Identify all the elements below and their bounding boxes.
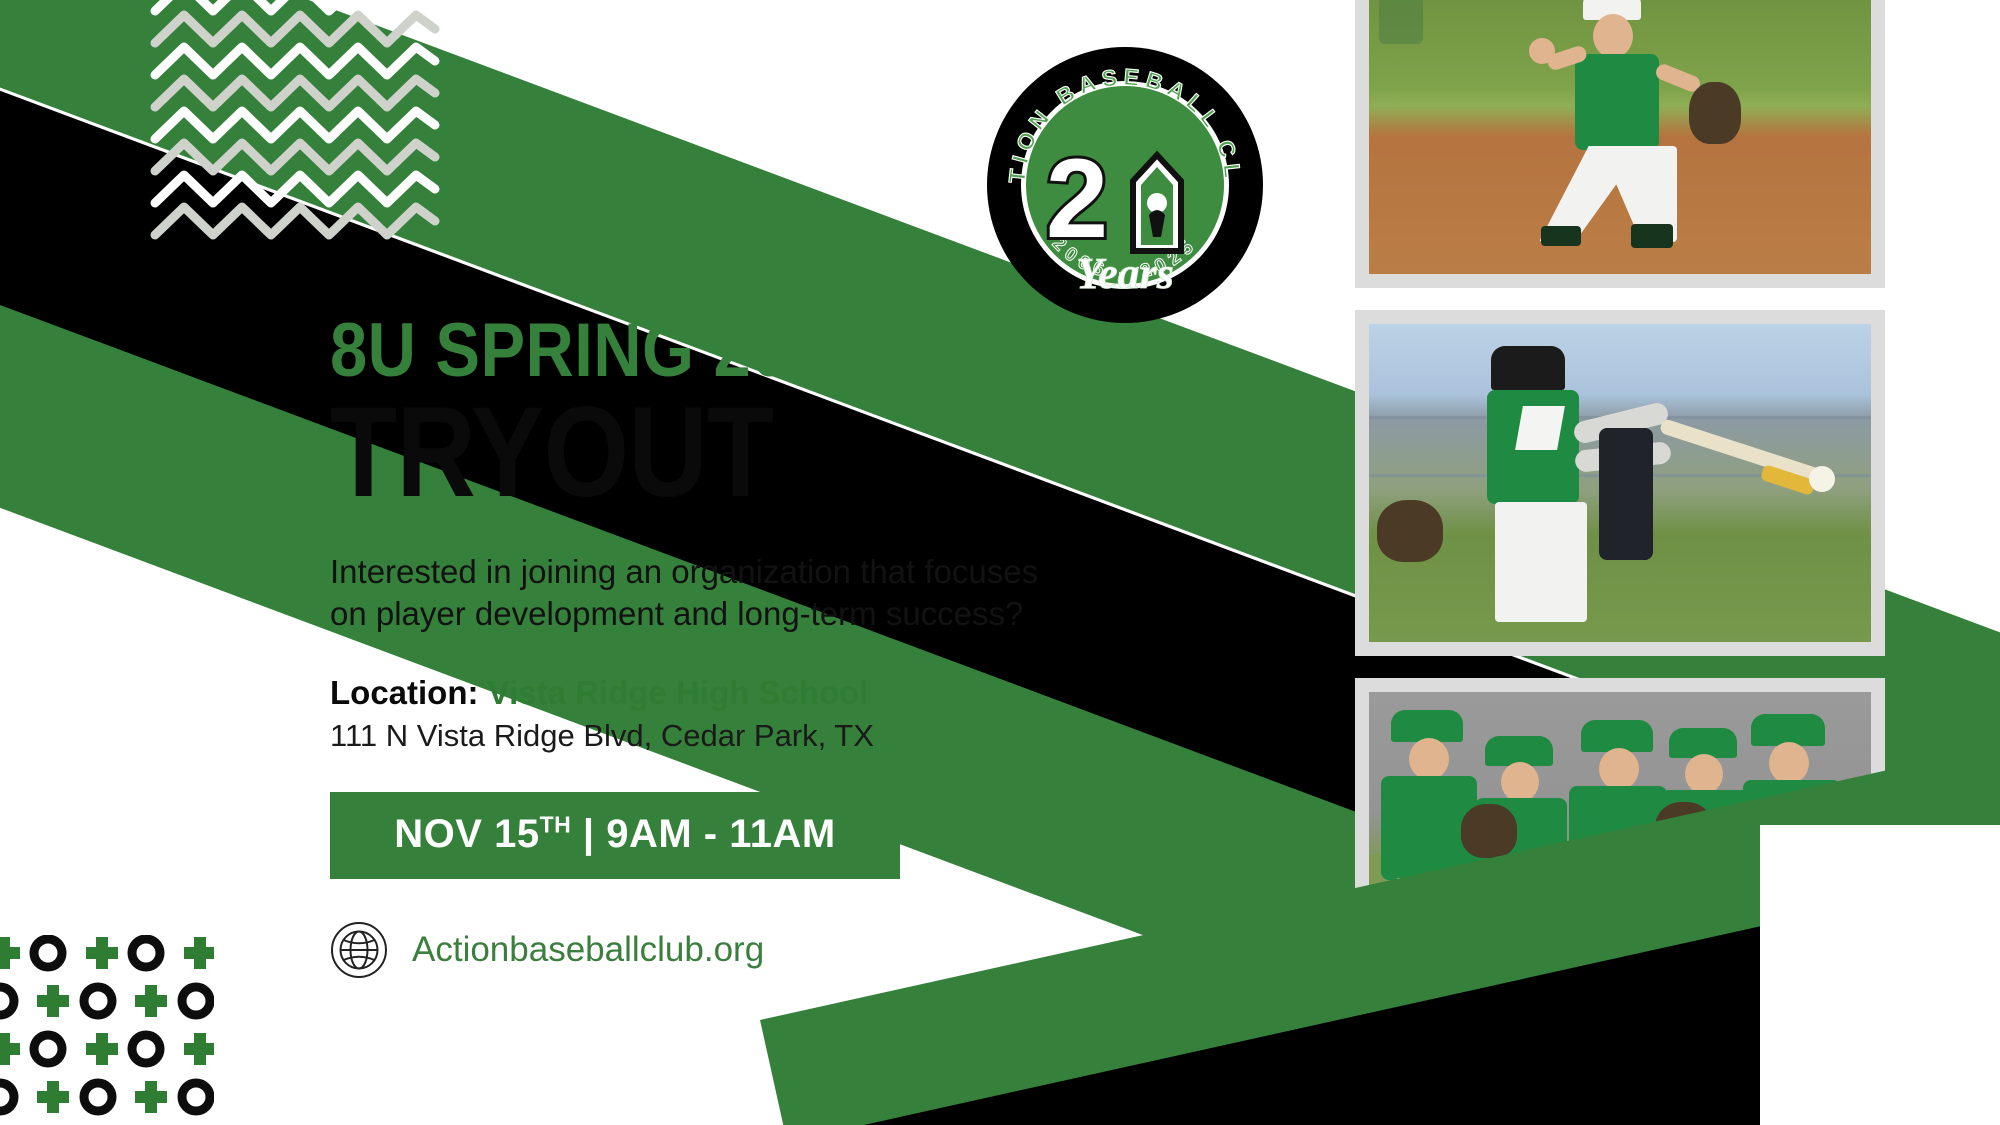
event-ordinal-suffix: TH (540, 811, 572, 837)
plus-circle-grid-pattern (0, 935, 212, 1125)
logo-monogram-a (1133, 155, 1181, 251)
photo-batter (1369, 324, 1871, 642)
location-line: Location: Vista Ridge High School (330, 672, 1110, 713)
location-label: Location: (330, 674, 478, 711)
logo-script-years: Years (1076, 249, 1174, 298)
location-venue: Vista Ridge High School (488, 674, 869, 711)
logo-anniversary-number: 2 (1046, 136, 1108, 261)
page-title: TRYOUT (330, 389, 1001, 517)
photo-frame-batter (1355, 310, 1885, 656)
intro-paragraph: Interested in joining an organization th… (330, 551, 1040, 635)
website-url[interactable]: Actionbaseballclub.org (412, 930, 764, 970)
event-time-range: 9AM - 11AM (606, 812, 836, 856)
text-content-block: 8U SPRING 2026 TRYOUT Interested in join… (330, 315, 1110, 979)
event-separator: | (583, 812, 595, 856)
location-address: 111 N Vista Ridge Blvd, Cedar Park, TX (330, 717, 1110, 756)
bottom-right-white-mask (1760, 825, 2000, 1125)
action-baseball-club-logo: ACTION BASEBALL CLUB 2006 - 2025 2 Years (985, 45, 1265, 325)
globe-icon (330, 921, 388, 979)
zigzag-pattern-icon (150, 0, 440, 238)
photo-pitcher (1369, 0, 1871, 274)
photo-frame-pitcher (1355, 0, 1885, 288)
page-eyebrow-title: 8U SPRING 2026 (330, 315, 1016, 387)
event-month-day: NOV 15 (394, 812, 539, 856)
event-date-banner: NOV 15TH | 9AM - 11AM (330, 792, 900, 879)
flyer-canvas: ACTION BASEBALL CLUB 2006 - 2025 2 Years… (0, 0, 2000, 1125)
